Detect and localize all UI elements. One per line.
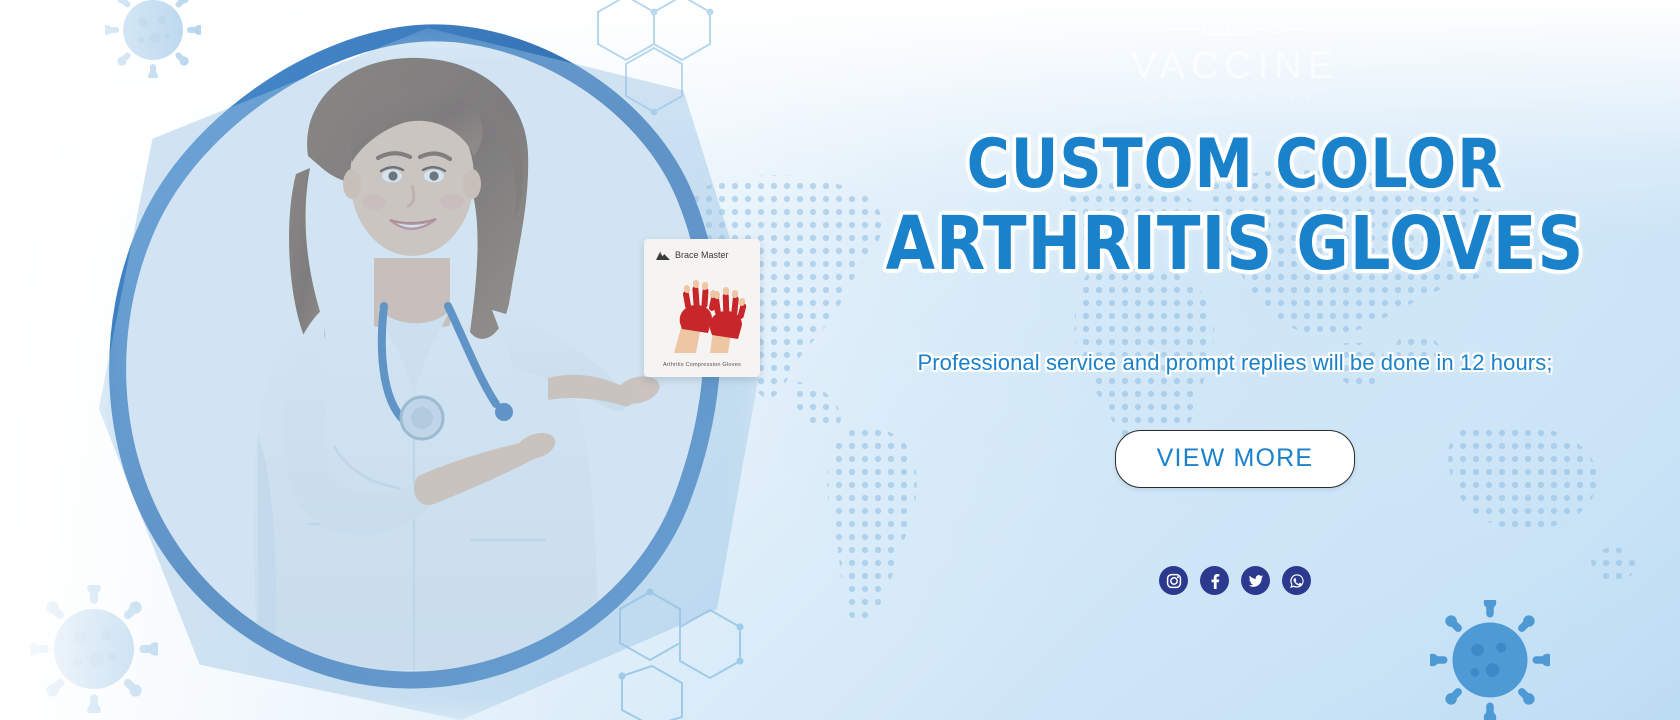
- product-brand-row: Brace Master: [644, 239, 760, 260]
- syringe-icon: [1160, 16, 1310, 42]
- product-caption: Arthritis Compression Gloves: [644, 362, 760, 368]
- mountain-logo-icon: [656, 250, 670, 260]
- doctor-photo-blob: Brace Master: [78, 6, 758, 706]
- twitter-icon: [1248, 573, 1264, 589]
- product-brand-label: Brace Master: [675, 250, 729, 260]
- vaccine-watermark-word: VACCINE: [1131, 47, 1339, 85]
- whatsapp-icon-button[interactable]: [1282, 566, 1311, 595]
- hero-banner: Brace Master: [0, 0, 1680, 720]
- instagram-icon-button[interactable]: [1159, 566, 1188, 595]
- instagram-icon: [1166, 573, 1182, 589]
- social-links: [790, 566, 1680, 595]
- product-gloves-illustration: [644, 273, 760, 353]
- headline-line-2: ARTHRITIS GLOVES: [808, 205, 1662, 285]
- vaccine-watermark: VACCINE FREE TESTING: [1131, 16, 1339, 103]
- view-more-button[interactable]: VIEW MORE: [1115, 430, 1355, 488]
- subtitle: Professional service and prompt replies …: [790, 350, 1680, 376]
- whatsapp-icon: [1289, 573, 1305, 589]
- headline: CUSTOM COLOR ARTHRITIS GLOVES: [790, 128, 1680, 285]
- headline-line-1: CUSTOM COLOR: [808, 128, 1662, 201]
- vaccine-watermark-subtext: FREE TESTING: [1131, 91, 1339, 103]
- facebook-icon: [1207, 573, 1223, 589]
- twitter-icon-button[interactable]: [1241, 566, 1270, 595]
- banner-content: VACCINE FREE TESTING CUSTOM COLOR ARTHRI…: [790, 0, 1680, 720]
- cta-row: VIEW MORE: [790, 430, 1680, 488]
- facebook-icon-button[interactable]: [1200, 566, 1229, 595]
- product-box: Brace Master: [644, 239, 760, 377]
